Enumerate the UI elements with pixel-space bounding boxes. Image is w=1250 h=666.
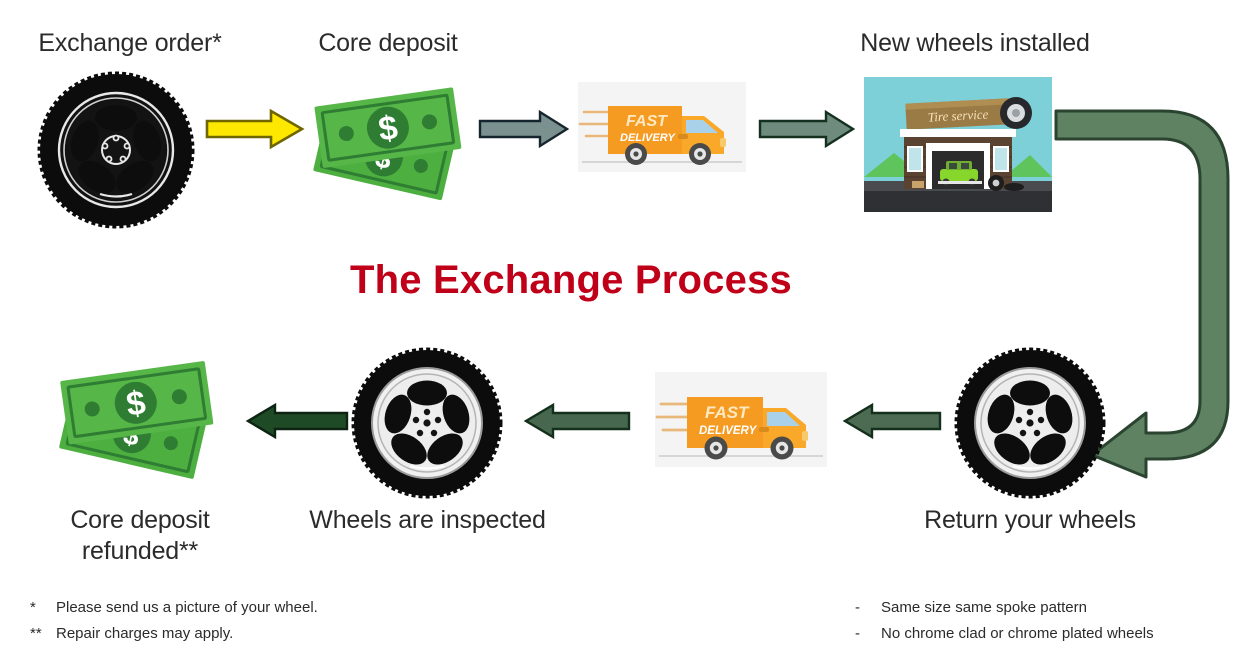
fast-delivery-truck-icon: FAST DELIVERY xyxy=(578,82,746,172)
footnote-mark: * xyxy=(30,595,56,621)
page-title: The Exchange Process xyxy=(350,258,792,303)
arrow-return-to-shipping xyxy=(842,403,942,439)
money-icon: $ $ xyxy=(308,78,478,203)
truck-text-delivery: DELIVERY xyxy=(620,132,676,144)
step-label-exchange-order: Exchange order* xyxy=(0,28,260,59)
wheel-silver-icon-return xyxy=(955,348,1105,498)
step-label-return-your-wheels: Return your wheels xyxy=(880,505,1180,536)
footnote-text: Please send us a picture of your wheel. xyxy=(56,595,318,621)
footnote-right-row-2: - No chrome clad or chrome plated wheels xyxy=(855,621,1154,647)
step-label-core-deposit-refunded: Core deposit refunded** xyxy=(20,505,260,567)
step-label-wheels-are-inspected: Wheels are inspected xyxy=(290,505,565,536)
step-label-new-wheels-installed: New wheels installed xyxy=(800,28,1150,59)
arrow-inspect-to-refund xyxy=(245,403,349,439)
footnote-text: Repair charges may apply. xyxy=(56,621,233,647)
wheel-silver-icon-inspected xyxy=(352,348,502,498)
wheel-black-icon xyxy=(38,72,194,228)
arrow-shipping-to-install xyxy=(758,110,856,148)
shop-sign-text: Tire service xyxy=(927,106,988,124)
footnote-right: - Same size same spoke pattern - No chro… xyxy=(855,595,1154,647)
arrow-deposit-to-shipping xyxy=(478,110,570,148)
footnote-mark: - xyxy=(855,595,881,621)
footnote-right-row-1: - Same size same spoke pattern xyxy=(855,595,1154,621)
footnote-left-row-2: ** Repair charges may apply. xyxy=(30,621,318,647)
footnote-text: No chrome clad or chrome plated wheels xyxy=(881,621,1154,647)
footnote-mark: ** xyxy=(30,621,56,647)
footnote-left: * Please send us a picture of your wheel… xyxy=(30,595,318,647)
step-label-core-deposit: Core deposit xyxy=(288,28,488,59)
svg-text:DELIVERY: DELIVERY xyxy=(699,425,758,437)
footnote-left-row-1: * Please send us a picture of your wheel… xyxy=(30,595,318,621)
exchange-process-diagram: Exchange order* Core deposit New wheels … xyxy=(0,0,1250,666)
svg-text:FAST: FAST xyxy=(705,403,750,422)
tire-service-shop-icon: Tire service xyxy=(864,77,1052,212)
arrow-order-to-deposit xyxy=(205,108,305,150)
arrow-shipping-to-inspect xyxy=(523,403,631,439)
money-icon-refund: $ $ xyxy=(52,352,232,482)
truck-text-fast: FAST xyxy=(626,113,668,130)
footnote-text: Same size same spoke pattern xyxy=(881,595,1087,621)
footnote-mark: - xyxy=(855,621,881,647)
fast-delivery-truck-icon-return: FAST DELIVERY xyxy=(655,372,827,467)
